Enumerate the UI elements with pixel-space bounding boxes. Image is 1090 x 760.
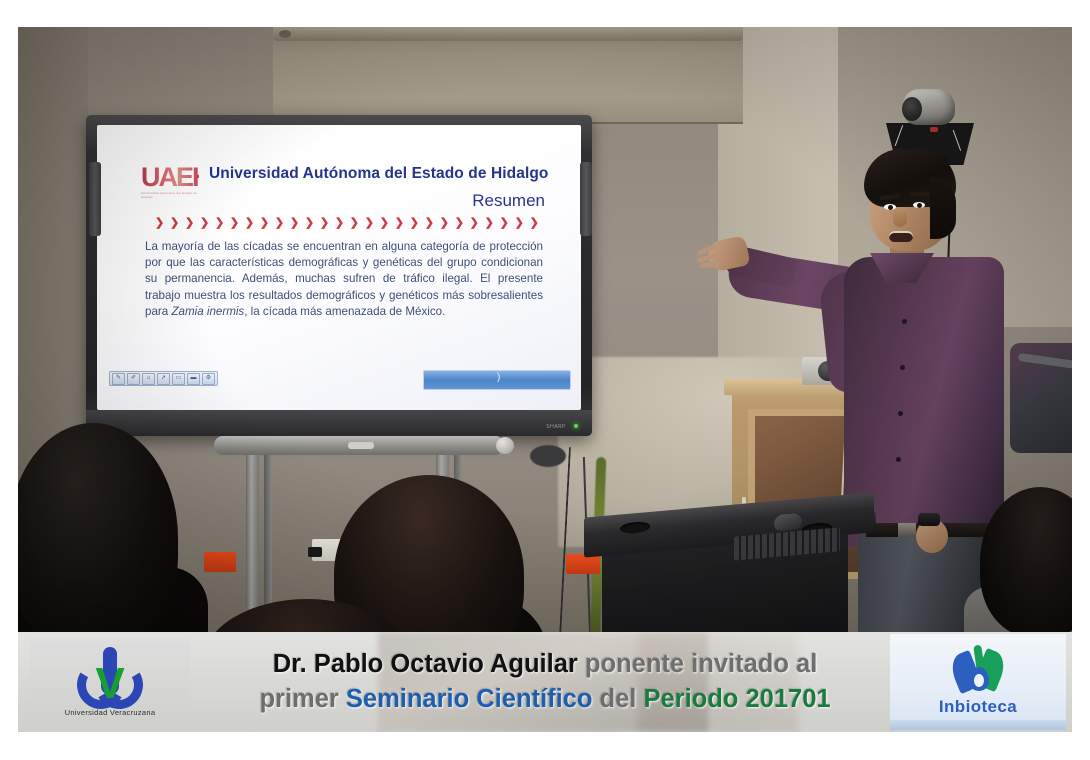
caption-line-2-mid: del: [592, 685, 643, 713]
universidad-veracruzana-label: Universidad Veracruzana: [65, 708, 156, 717]
slide-body-species: Zamia inermis: [171, 305, 244, 318]
chevron-icon: ❯: [200, 218, 209, 229]
roller-blind-tube: [273, 27, 743, 41]
chevron-icon: ❯: [410, 218, 419, 229]
event-photograph: UAEH Universidad Autónoma del Estado de …: [18, 27, 1072, 632]
pen-icon[interactable]: ✎: [112, 373, 125, 385]
display-brand-label: SHARP: [546, 424, 566, 430]
chevron-icon: ❯: [380, 218, 389, 229]
power-led-icon: [574, 424, 578, 428]
display-speaker-right: [580, 162, 592, 236]
display-stand-crossbar: [214, 436, 504, 455]
chevron-icon: ❯: [155, 218, 164, 229]
chevron-icon: ❯: [515, 218, 524, 229]
caption-line-1: Dr. Pablo Octavio Aguilar ponente invita…: [273, 648, 818, 681]
caption-line-1-rest: ponente invitado al: [578, 650, 817, 678]
chevron-icon: ❯: [245, 218, 254, 229]
display-bezel-bottom: [86, 410, 592, 436]
chevron-icon: ❯: [320, 218, 329, 229]
presentation-slide: UAEH Universidad Autónoma del Estado de …: [97, 125, 581, 410]
laptop-screen-inbioteca: Inbioteca: [890, 634, 1066, 730]
fleur-de-lis-icon: V: [73, 647, 147, 705]
highlighter-icon[interactable]: ✐: [127, 373, 140, 385]
chevron-icon: ❯: [395, 218, 404, 229]
chevron-icon: ❯: [455, 218, 464, 229]
eraser-icon[interactable]: ▬: [187, 373, 200, 385]
uaeh-logo-subtext: Universidad Autónoma del Estado de Hidal…: [141, 191, 201, 199]
caption-seminar-name: Seminario Científico: [346, 685, 593, 713]
chevron-icon: ❯: [530, 218, 539, 229]
chevron-icon: ❯: [305, 218, 314, 229]
display-stand-leg-left: [246, 452, 259, 632]
display-stand-knob: [496, 437, 514, 454]
chevron-icon: ❯: [215, 218, 224, 229]
inbioteca-mark-icon: [949, 647, 1007, 695]
caption-speaker-name: Dr. Pablo Octavio Aguilar: [273, 650, 578, 678]
slide-icon[interactable]: ▭: [172, 373, 185, 385]
computer-mouse-icon[interactable]: [774, 513, 802, 531]
chevron-divider: ❯❯❯❯❯❯❯❯❯❯❯❯❯❯❯❯❯❯❯❯❯❯❯❯❯❯: [155, 217, 539, 229]
presenter-watch-icon: [918, 513, 940, 526]
uaeh-logo: UAEH: [141, 161, 199, 195]
display-speaker-left: [89, 162, 101, 236]
caption-band: Dr. Pablo Octavio Aguilar ponente invita…: [18, 632, 1072, 732]
letter-v-icon: V: [93, 669, 127, 703]
cart-cable-grommet: [620, 521, 650, 535]
chevron-icon: ❯: [260, 218, 269, 229]
chevron-icon: ❯: [500, 218, 509, 229]
display-screen: UAEH Universidad Autónoma del Estado de …: [97, 125, 581, 410]
wall-outlet-orange-2: [204, 552, 236, 572]
inbioteca-drop: [969, 667, 989, 691]
chevron-icon: ❯: [185, 218, 194, 229]
chevron-icon: ❯: [290, 218, 299, 229]
presenter-eye-right: [913, 202, 925, 208]
camera-lens-icon: [902, 97, 922, 121]
presenter-nose: [893, 211, 907, 227]
roller-blind: [273, 27, 743, 124]
chevron-icon: ❯: [425, 218, 434, 229]
universidad-veracruzana-logo: V Universidad Veracruzana: [30, 638, 190, 726]
caption-line-2-lead: primer: [259, 685, 345, 713]
presenter-mouth: [889, 231, 913, 242]
presenter-eye-left: [884, 204, 896, 210]
chevron-icon: ❯: [275, 218, 284, 229]
slide-body-tail: , la cícada más amenazada de México.: [244, 305, 445, 318]
chevron-icon: ❯: [365, 218, 374, 229]
slide-body-text: La mayoría de las cícadas se encuentran …: [145, 239, 543, 320]
display-stand-disc: [530, 445, 566, 467]
slide-header-title: Universidad Autónoma del Estado de Hidal…: [209, 165, 549, 183]
laptop-screen-edge: [890, 720, 1066, 730]
outlet-plug: [308, 547, 322, 557]
chevron-icon: ❯: [335, 218, 344, 229]
caption-period: Periodo 201701: [643, 685, 830, 713]
chevron-icon: ❯: [470, 218, 479, 229]
wall-outlet-orange: [566, 554, 600, 574]
arrow-icon[interactable]: ➚: [157, 373, 170, 385]
interactive-display: UAEH Universidad Autónoma del Estado de …: [86, 115, 592, 436]
home-icon[interactable]: ⌂: [142, 373, 155, 385]
poster-container: UAEH Universidad Autónoma del Estado de …: [0, 0, 1090, 760]
chevron-icon: ❯: [230, 218, 239, 229]
settings-icon[interactable]: ⚙: [202, 373, 215, 385]
caption-line-2: primer Seminario Científico del Periodo …: [259, 683, 830, 716]
chevron-icon: ❯: [440, 218, 449, 229]
chevron-icon: ❯: [485, 218, 494, 229]
camera-brand-dot: [930, 127, 938, 132]
presentation-progress-bar[interactable]: [423, 370, 571, 390]
presentation-toolbar[interactable]: ✎✐⌂➚▭▬⚙: [109, 371, 218, 386]
presenter-belt-buckle: [898, 523, 916, 537]
chevron-icon: ❯: [350, 218, 359, 229]
chevron-icon: ❯: [170, 218, 179, 229]
inbioteca-label: Inbioteca: [939, 697, 1017, 717]
slide-section-title: Resumen: [472, 191, 545, 211]
